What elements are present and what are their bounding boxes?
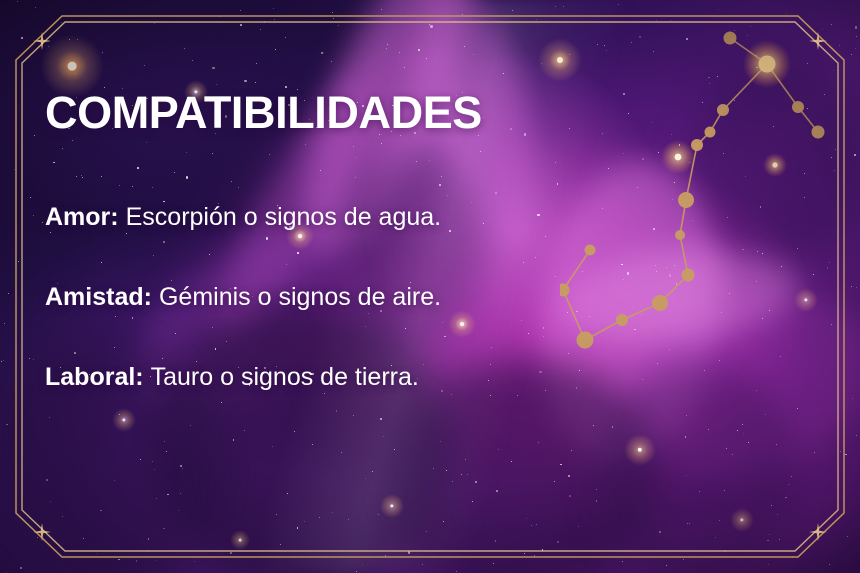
- compatibility-row-amistad: Amistad:Géminis o signos de aire.: [45, 285, 441, 310]
- compatibility-label: Amor:: [45, 203, 119, 231]
- page-title: COMPATIBILIDADES: [45, 90, 482, 135]
- horoscope-compatibility-card: COMPATIBILIDADES Amor:Escorpión o signos…: [0, 0, 860, 573]
- compatibility-value: Tauro o signos de tierra.: [151, 363, 419, 391]
- compatibility-row-laboral: Laboral:Tauro o signos de tierra.: [45, 365, 419, 390]
- card-content: COMPATIBILIDADES Amor:Escorpión o signos…: [45, 0, 805, 573]
- four-point-sparkle-icon: [809, 32, 827, 50]
- four-point-sparkle-icon: [809, 523, 827, 541]
- compatibility-value: Géminis o signos de aire.: [159, 283, 441, 311]
- compatibility-label: Laboral:: [45, 363, 144, 391]
- compatibility-label: Amistad:: [45, 283, 152, 311]
- compatibility-row-amor: Amor:Escorpión o signos de agua.: [45, 205, 441, 230]
- compatibility-value: Escorpión o signos de agua.: [126, 203, 442, 231]
